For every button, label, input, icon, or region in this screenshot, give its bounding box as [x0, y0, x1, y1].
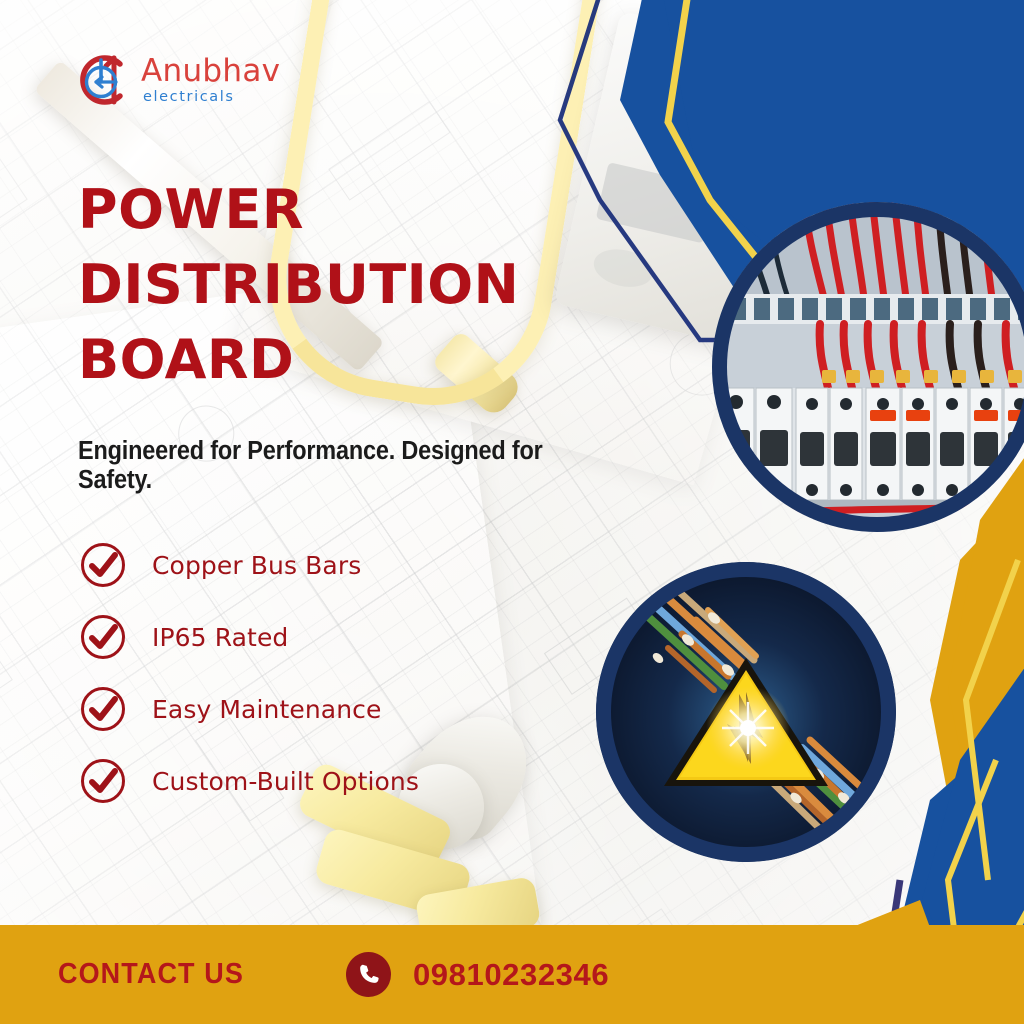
check-circle-icon: [80, 614, 126, 660]
feature-label: Custom-Built Options: [152, 767, 419, 796]
feature-label: Copper Bus Bars: [152, 551, 361, 580]
list-item: Custom-Built Options: [80, 758, 419, 804]
contact-label: CONTACT US: [58, 958, 244, 991]
phone-contact[interactable]: 09810232346: [346, 952, 609, 997]
headline-line-1: POWER: [78, 172, 598, 247]
brand-wordmark: Anubhav electricals: [141, 56, 280, 105]
phone-handset-icon: [346, 952, 391, 997]
headline-line-2: DISTRIBUTION: [78, 247, 598, 322]
tagline: Engineered for Performance. Designed for…: [78, 437, 612, 495]
brand-logo[interactable]: Anubhav electricals: [76, 52, 280, 108]
feature-label: Easy Maintenance: [152, 695, 381, 724]
feature-label: IP65 Rated: [152, 623, 288, 652]
power-button-circle-icon: [76, 52, 132, 108]
poster-canvas: Anubhav electricals POWER DISTRIBUTION B…: [0, 0, 1024, 1024]
check-circle-icon: [80, 758, 126, 804]
distribution-board-photo-ring: [712, 202, 1024, 532]
feature-list: Copper Bus Bars IP65 Rated Easy Maintena…: [80, 542, 419, 804]
check-circle-icon: [80, 542, 126, 588]
list-item: IP65 Rated: [80, 614, 419, 660]
phone-number: 09810232346: [413, 957, 609, 993]
list-item: Copper Bus Bars: [80, 542, 419, 588]
brand-name: Anubhav: [141, 56, 280, 87]
check-circle-icon: [80, 686, 126, 732]
electrical-hazard-photo-ring: [596, 562, 896, 862]
list-item: Easy Maintenance: [80, 686, 419, 732]
brand-subtitle: electricals: [143, 90, 280, 105]
headline-line-3: BOARD: [78, 322, 598, 397]
page-title: POWER DISTRIBUTION BOARD: [78, 172, 598, 397]
contact-bar: CONTACT US 09810232346: [0, 925, 1024, 1024]
